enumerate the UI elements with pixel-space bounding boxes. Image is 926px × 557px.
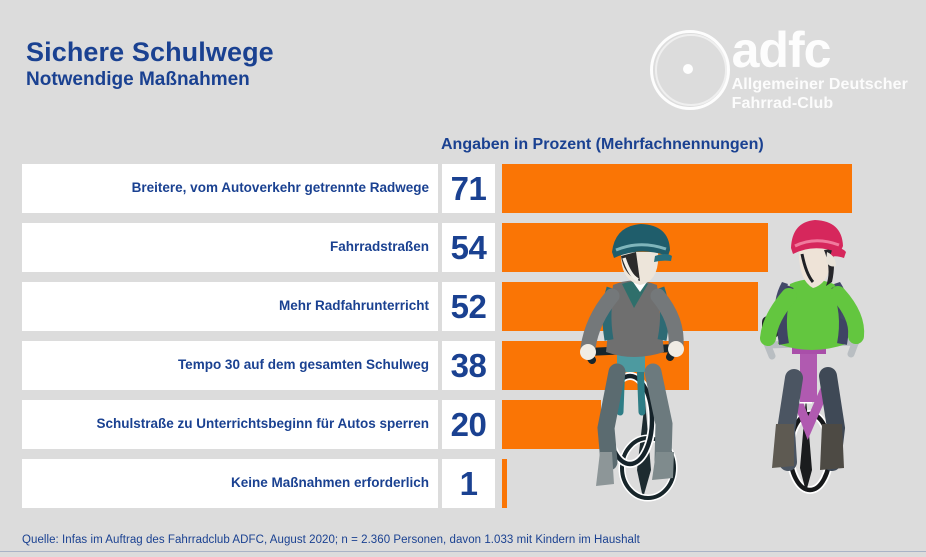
chart-row: Schulstraße zu Unterrichtsbeginn für Aut… [22, 400, 912, 449]
row-value-box: 1 [442, 459, 495, 508]
row-value-box: 54 [442, 223, 495, 272]
row-value: 1 [460, 467, 478, 500]
infographic-canvas: Sichere Schulwege Notwendige Maßnahmen a… [0, 0, 926, 557]
row-value: 54 [451, 231, 487, 264]
row-label-box: Breitere, vom Autoverkehr getrennte Radw… [22, 164, 438, 213]
source-note: Quelle: Infas im Auftrag des Fahrradclub… [22, 534, 640, 546]
footer-divider [0, 551, 926, 552]
row-value: 52 [451, 290, 487, 323]
row-value: 20 [451, 408, 487, 441]
row-value: 38 [451, 349, 487, 382]
row-label: Fahrradstraßen [330, 240, 429, 255]
row-value-box: 20 [442, 400, 495, 449]
page-title: Sichere Schulwege [26, 38, 274, 66]
row-label-box: Fahrradstraßen [22, 223, 438, 272]
row-value-box: 71 [442, 164, 495, 213]
bar-track [502, 223, 912, 272]
chart-row: Tempo 30 auf dem gesamten Schulweg38 [22, 341, 912, 390]
adfc-logo: adfc Allgemeiner Deutscher Fahrrad-Club [648, 26, 908, 106]
row-value: 71 [451, 172, 487, 205]
row-label: Tempo 30 auf dem gesamten Schulweg [178, 358, 429, 373]
logo-text-block: adfc Allgemeiner Deutscher Fahrrad-Club [732, 26, 908, 113]
row-label: Keine Maßnahmen erforderlich [231, 476, 429, 491]
chart-row: Breitere, vom Autoverkehr getrennte Radw… [22, 164, 912, 213]
row-label-box: Keine Maßnahmen erforderlich [22, 459, 438, 508]
bar-track [502, 459, 912, 508]
row-label: Mehr Radfahrunterricht [279, 299, 429, 314]
row-label-box: Tempo 30 auf dem gesamten Schulweg [22, 341, 438, 390]
bar [502, 400, 601, 449]
title-block: Sichere Schulwege Notwendige Maßnahmen [26, 38, 274, 90]
logo-subtitle-line1: Allgemeiner Deutscher [732, 75, 908, 94]
bar-chart: Breitere, vom Autoverkehr getrennte Radw… [22, 164, 912, 518]
bar [502, 341, 689, 390]
bar-track [502, 282, 912, 331]
bar-track [502, 164, 912, 213]
bar-track [502, 341, 912, 390]
wheel-hub-icon [683, 64, 693, 74]
chart-row: Mehr Radfahrunterricht52 [22, 282, 912, 331]
bar-track [502, 400, 912, 449]
page-subtitle: Notwendige Maßnahmen [26, 70, 274, 90]
row-value-box: 38 [442, 341, 495, 390]
row-label: Breitere, vom Autoverkehr getrennte Radw… [132, 181, 429, 196]
row-label: Schulstraße zu Unterrichtsbeginn für Aut… [96, 417, 429, 432]
bar [502, 282, 758, 331]
chart-row: Fahrradstraßen54 [22, 223, 912, 272]
row-label-box: Schulstraße zu Unterrichtsbeginn für Aut… [22, 400, 438, 449]
row-value-box: 52 [442, 282, 495, 331]
logo-wordmark: adfc [732, 26, 908, 74]
chart-row: Keine Maßnahmen erforderlich1 [22, 459, 912, 508]
row-label-box: Mehr Radfahrunterricht [22, 282, 438, 331]
logo-subtitle-line2: Fahrrad-Club [732, 94, 908, 113]
bar [502, 223, 768, 272]
bicycle-wheel-icon [648, 28, 728, 108]
bar [502, 164, 852, 213]
chart-note: Angaben in Prozent (Mehrfachnennungen) [441, 136, 764, 154]
bar [502, 459, 507, 508]
